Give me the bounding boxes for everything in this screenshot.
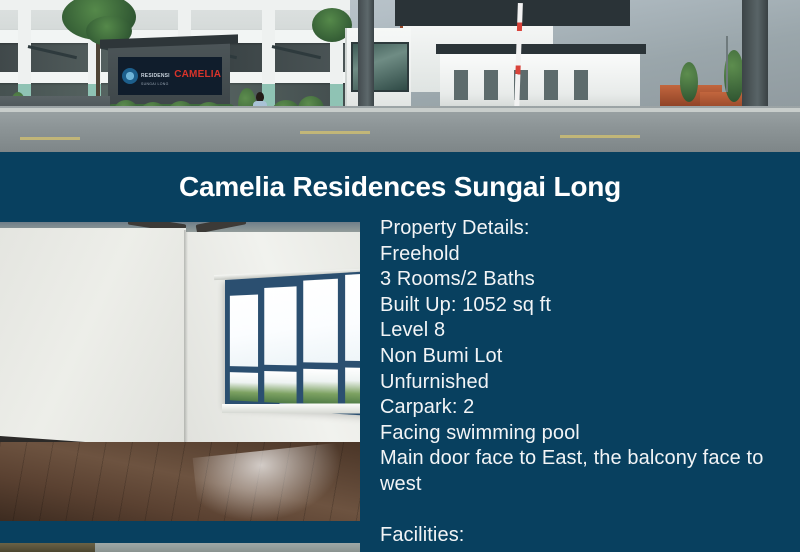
camelia-logo-icon xyxy=(122,68,138,84)
detail-line-level: Level 8 xyxy=(380,318,794,344)
property-exterior-photo: RESIDENSI CAMELIA SUNGAI LONG xyxy=(0,0,800,152)
detail-line-orientation: Main door face to East, the balcony face… xyxy=(380,446,794,497)
secondary-photo-right-region xyxy=(95,543,360,552)
row-house-eave xyxy=(436,44,646,54)
window-sill xyxy=(222,403,360,413)
mid-building-roofline xyxy=(395,0,630,26)
window-pane-lower xyxy=(345,367,360,405)
detail-line-lot-type: Non Bumi Lot xyxy=(380,344,794,370)
row-house-block xyxy=(440,52,640,112)
detail-line-rooms-baths: 3 Rooms/2 Baths xyxy=(380,267,794,293)
row-house-window xyxy=(574,70,588,100)
row-house-window xyxy=(484,70,498,100)
shrub-tall xyxy=(680,62,698,102)
wall-corner-shadow xyxy=(184,230,188,460)
listing-title-bar: Camelia Residences Sungai Long xyxy=(0,152,800,222)
kerb-line xyxy=(0,108,800,112)
detail-line-tenure: Freehold xyxy=(380,242,794,268)
window-pane xyxy=(303,279,338,363)
sign-brand-name: CAMELIA xyxy=(174,69,221,80)
detail-line-built-up: Built Up: 1052 sq ft xyxy=(380,293,794,319)
driveway xyxy=(0,106,800,152)
window xyxy=(225,270,360,416)
row-house-window xyxy=(454,70,468,100)
left-wall xyxy=(0,228,186,468)
window-pane xyxy=(230,294,258,366)
monument-sign-panel: RESIDENSI CAMELIA SUNGAI LONG xyxy=(118,57,222,95)
window-pane-lower xyxy=(264,371,296,404)
detail-line-facing: Facing swimming pool xyxy=(380,421,794,447)
page-title: Camelia Residences Sungai Long xyxy=(179,171,621,203)
window-pane-lower xyxy=(303,369,338,405)
sign-brand-prefix: RESIDENSI xyxy=(141,73,170,79)
secondary-property-photo xyxy=(0,543,360,552)
detail-line-carpark: Carpark: 2 xyxy=(380,395,794,421)
details-spacer xyxy=(380,498,794,524)
sign-subtitle: SUNGAI LONG xyxy=(141,83,221,87)
detail-line-furnishing: Unfurnished xyxy=(380,370,794,396)
secondary-photo-left-region xyxy=(0,543,95,552)
road-marking xyxy=(300,131,370,134)
details-heading: Property Details: xyxy=(380,216,794,242)
property-details-block: Property Details: Freehold 3 Rooms/2 Bat… xyxy=(380,216,794,549)
window-pane xyxy=(345,273,360,361)
monument-sign-text: RESIDENSI CAMELIA SUNGAI LONG xyxy=(141,65,221,87)
entrance-pillar-left xyxy=(358,0,374,116)
window-pane-lower xyxy=(230,372,258,402)
road-marking xyxy=(560,135,640,138)
row-house-window xyxy=(544,70,558,100)
room-interior-photo xyxy=(0,222,360,521)
facilities-heading: Facilities: xyxy=(380,523,794,549)
lamp-post xyxy=(726,36,728,92)
window-pane xyxy=(264,286,296,365)
road-marking xyxy=(20,137,80,140)
